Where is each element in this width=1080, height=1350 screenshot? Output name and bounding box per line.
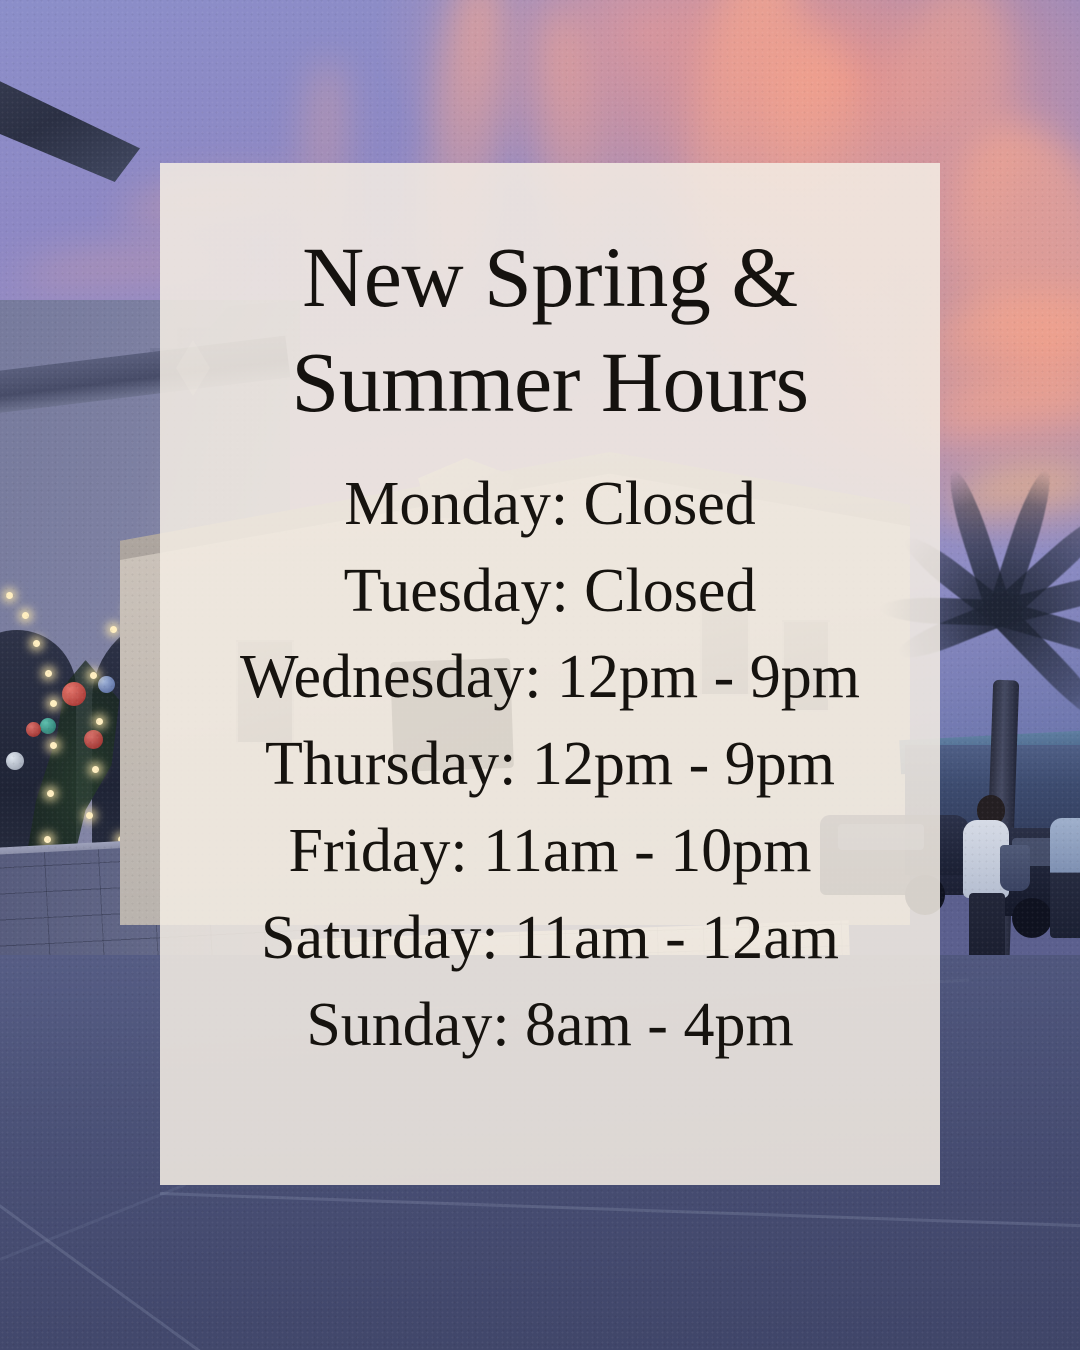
- string-light: [110, 626, 117, 633]
- string-light: [86, 812, 93, 819]
- page-title: New Spring & Summer Hours: [291, 163, 808, 435]
- pedestrian-second: [1050, 818, 1080, 938]
- hours-row: Saturday: 11am - 12am: [160, 895, 940, 982]
- ornament-silver: [6, 752, 24, 770]
- ornament-red: [62, 682, 86, 706]
- string-light: [92, 766, 99, 773]
- hours-row: Monday: Closed: [160, 461, 940, 548]
- string-light: [44, 836, 51, 843]
- handbag: [1000, 845, 1030, 891]
- string-light: [45, 670, 52, 677]
- hours-overlay-card: New Spring & Summer Hours Monday: Closed…: [160, 163, 940, 1185]
- ornament-blue: [98, 676, 115, 693]
- string-light: [47, 790, 54, 797]
- poster-canvas: New Spring & Summer Hours Monday: Closed…: [0, 0, 1080, 1350]
- suv-tire: [1012, 898, 1052, 938]
- string-light: [33, 640, 40, 647]
- hours-list: Monday: Closed Tuesday: Closed Wednesday…: [160, 461, 940, 1069]
- hours-row: Wednesday: 12pm - 9pm: [160, 634, 940, 721]
- ornament-teal: [40, 718, 56, 734]
- hours-row: Friday: 11am - 10pm: [160, 808, 940, 895]
- ornament-red: [84, 730, 103, 749]
- hours-row: Tuesday: Closed: [160, 548, 940, 635]
- string-light: [50, 742, 57, 749]
- string-light: [96, 718, 103, 725]
- ornament-red: [26, 722, 41, 737]
- string-light: [90, 672, 97, 679]
- hours-row: Sunday: 8am - 4pm: [160, 982, 940, 1069]
- string-light: [50, 700, 57, 707]
- string-light: [6, 592, 13, 599]
- hours-row: Thursday: 12pm - 9pm: [160, 721, 940, 808]
- string-light: [22, 612, 29, 619]
